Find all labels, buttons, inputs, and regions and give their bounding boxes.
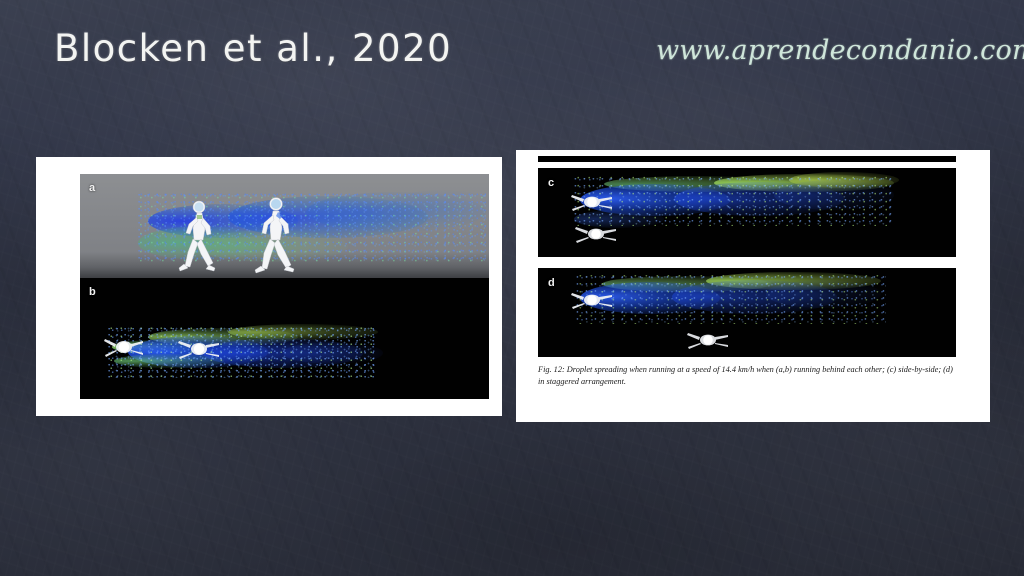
slide-canvas: Blocken et al., 2020 www.aprendecondanio… <box>0 0 1024 576</box>
panel-b-label: b <box>89 286 96 298</box>
runner-figure-b1 <box>102 330 148 364</box>
figure-top-rule <box>538 156 956 162</box>
panel-a: a <box>80 174 489 278</box>
runner-figure-a2 <box>252 196 300 278</box>
runner-figure-d1 <box>570 286 616 314</box>
runner-figure-c1 <box>570 188 616 216</box>
panel-a-label: a <box>89 182 95 194</box>
runner-figure-d2 <box>686 326 732 354</box>
page-title: Blocken et al., 2020 <box>54 26 452 72</box>
panel-c-droplet-cloud <box>574 176 894 232</box>
panel-d: d <box>538 268 956 357</box>
runner-figure-c2 <box>574 220 620 248</box>
panel-b: b <box>80 278 489 399</box>
panel-d-label: d <box>548 277 555 289</box>
panel-b-droplet-cloud <box>108 324 378 384</box>
panel-d-droplet-cloud <box>576 274 886 330</box>
runner-figure-b2 <box>176 332 224 366</box>
figure-card-left: a <box>36 157 502 416</box>
panel-c: c <box>538 168 956 257</box>
site-url-watermark: www.aprendecondanio.com <box>656 34 1024 68</box>
figure-caption: Fig. 12: Droplet spreading when running … <box>538 364 958 387</box>
runner-figure-a1 <box>176 200 220 278</box>
figure-card-right: c <box>516 150 990 422</box>
panel-c-label: c <box>548 177 554 189</box>
